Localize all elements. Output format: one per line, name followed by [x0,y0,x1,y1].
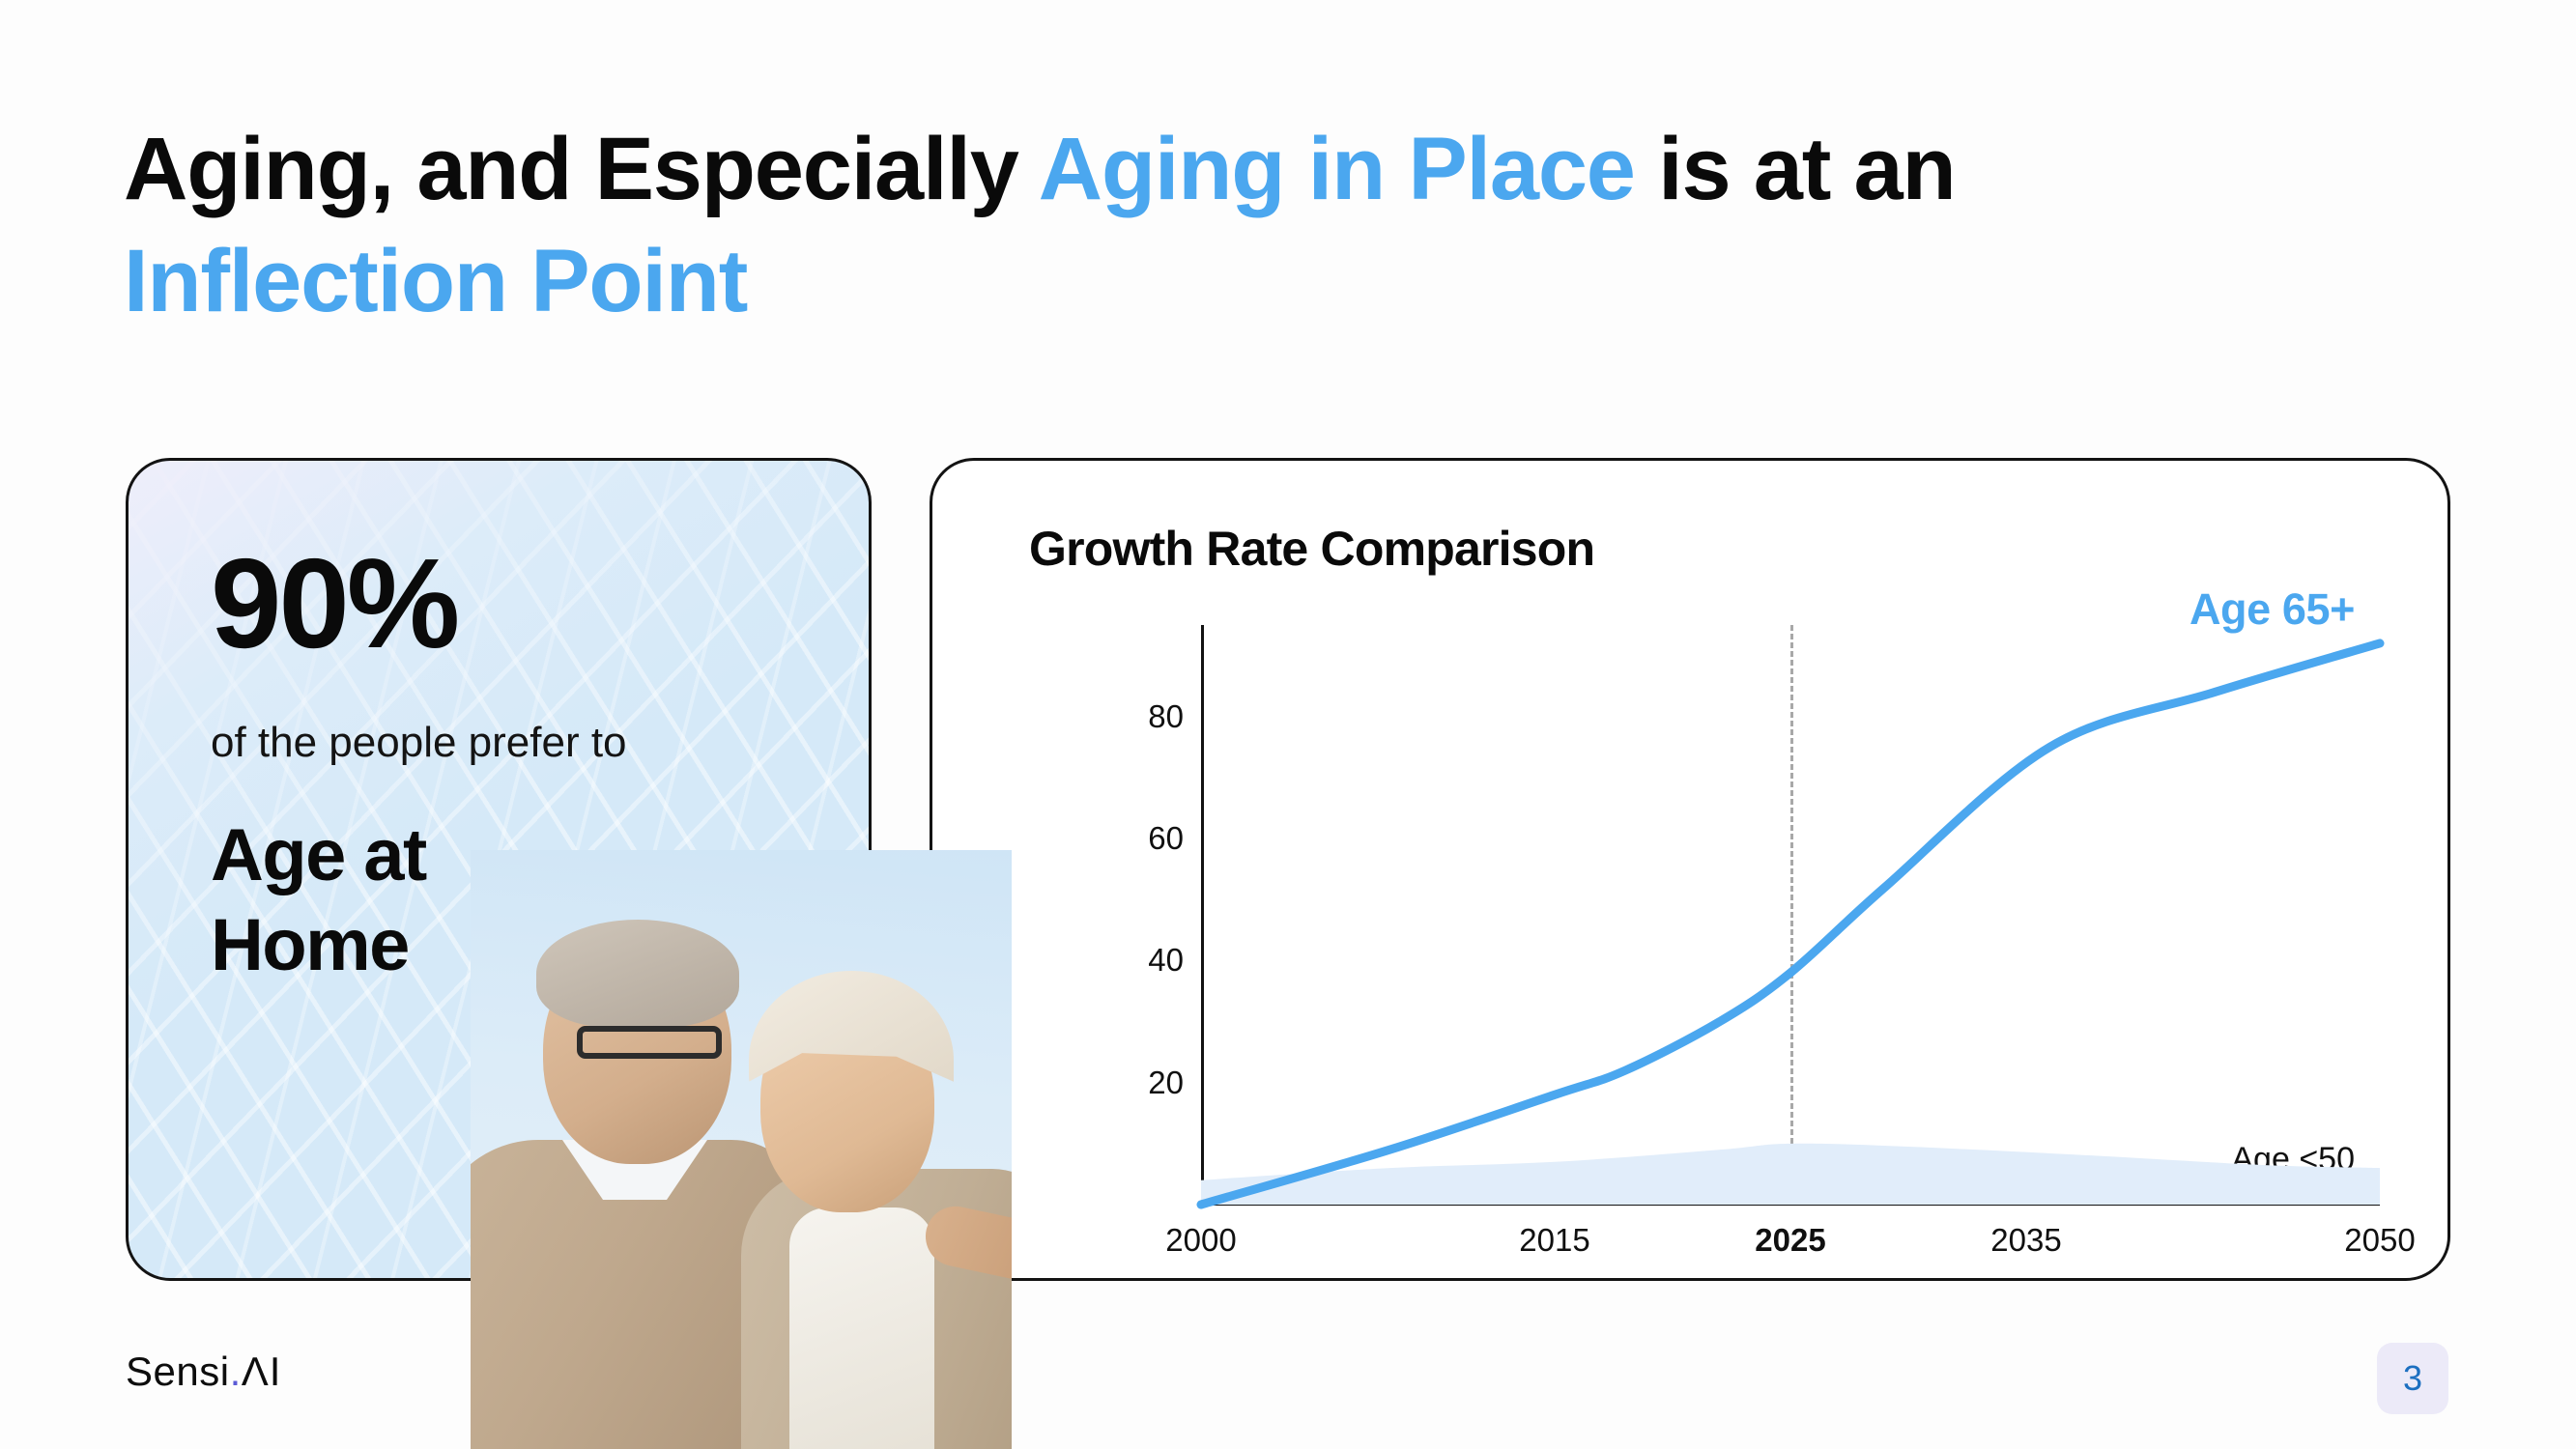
y-tick-40: 40 [1097,942,1184,979]
stat-value: 90% [211,540,869,668]
y-tick-60: 60 [1097,820,1184,857]
brand-logo: Sensi.ΛI [126,1349,281,1395]
title-segment-2: is at an [1635,120,1956,218]
logo-dot: . [230,1349,242,1395]
stat-card-content: 90% of the people prefer to Age at Home [129,461,869,990]
x-tick-2000: 2000 [1165,1222,1236,1259]
stat-card: 90% of the people prefer to Age at Home [126,458,872,1281]
x-tick-2035: 2035 [1990,1222,2061,1259]
stat-subtitle: of the people prefer to [211,718,869,769]
y-tick-80: 80 [1097,698,1184,735]
logo-ai: ΛI [242,1349,282,1395]
title-line-2: Inflection Point [124,226,2501,338]
x-tick-2050: 2050 [2344,1222,2415,1259]
chart-plot-area: 20406080 20002015202520352050 [1048,615,2380,1214]
x-tick-2025: 2025 [1755,1222,1825,1259]
logo-name: Sensi [126,1349,230,1395]
chart-title: Growth Rate Comparison [1029,521,1594,577]
page-number-badge: 3 [2377,1343,2448,1414]
chart-svg [1201,625,2380,1205]
slide: Aging, and Especially Aging in Place is … [0,0,2576,1449]
stat-emphasis: Age at Home [211,811,558,990]
title-segment-accent: Aging in Place [1039,120,1635,218]
page-title: Aging, and Especially Aging in Place is … [124,114,2501,338]
x-tick-2015: 2015 [1519,1222,1589,1259]
y-tick-20: 20 [1097,1065,1184,1101]
title-segment-1: Aging, and Especially [124,120,1039,218]
chart-card: Growth Rate Comparison Age 65+ Age <50 2… [930,458,2450,1281]
series-age-65 [1201,643,2380,1205]
